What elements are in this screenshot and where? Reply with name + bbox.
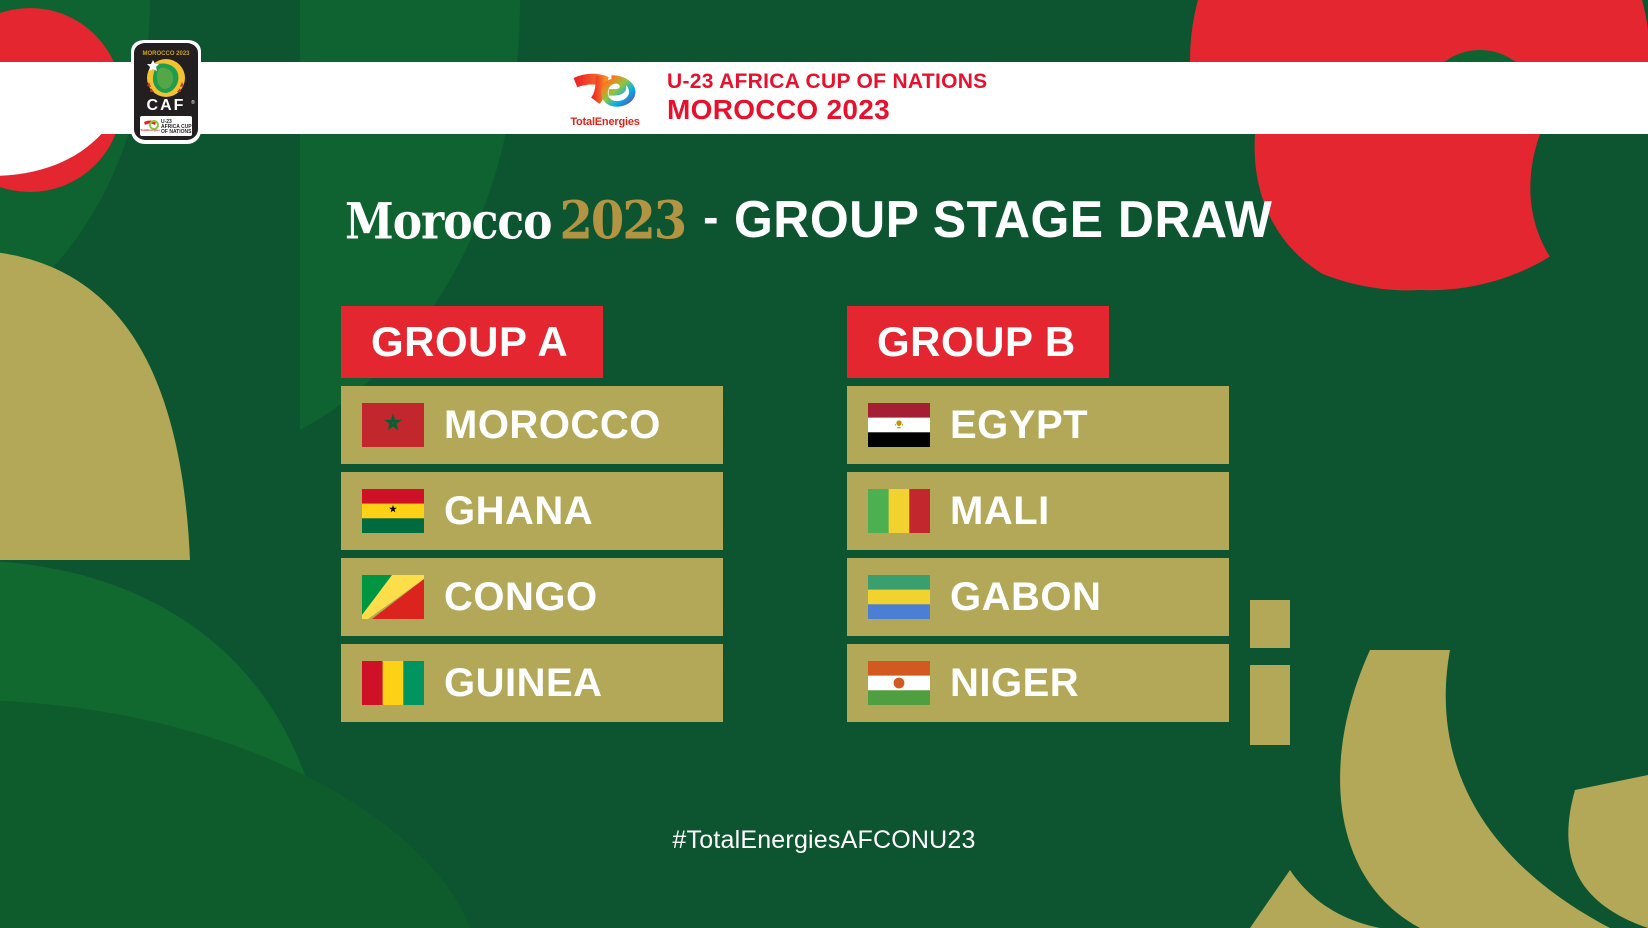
totalenergies-logo: TotalEnergies xyxy=(565,67,645,129)
group-a-label: GROUP A xyxy=(371,318,568,366)
team-name: CONGO xyxy=(444,575,598,620)
team-row[interactable]: EGYPT xyxy=(847,386,1229,464)
footer: #TotalEnergiesAFCONU23 xyxy=(0,826,1648,855)
groups-container: GROUP A MOROCCO GHANA CONG xyxy=(341,306,1229,722)
flag-gabon-icon xyxy=(868,575,930,619)
team-row[interactable]: GHANA xyxy=(341,472,723,550)
footer-hashtag: #TotalEnergiesAFCONU23 xyxy=(672,826,975,854)
header-line-1: U-23 AFRICA CUP OF NATIONS xyxy=(667,70,987,94)
group-a: GROUP A MOROCCO GHANA CONG xyxy=(341,306,723,722)
group-b-header: GROUP B xyxy=(847,306,1109,378)
header-line-2: MOROCCO 2023 xyxy=(667,94,987,126)
page-title: Morocco 2023 - GROUP STAGE DRAW xyxy=(345,185,1295,255)
title-separator: - xyxy=(703,190,718,244)
svg-text:MOROCCO 2023: MOROCCO 2023 xyxy=(142,51,190,57)
flag-niger-icon xyxy=(868,661,930,705)
sponsor-header-band: TotalEnergies U-23 AFRICA CUP OF NATIONS… xyxy=(0,62,1648,134)
svg-text:CAF: CAF xyxy=(147,97,186,114)
totalenergies-wordmark: TotalEnergies xyxy=(570,116,639,128)
team-row[interactable]: MOROCCO xyxy=(341,386,723,464)
flag-mali-icon xyxy=(868,489,930,533)
team-row[interactable]: MALI xyxy=(847,472,1229,550)
flag-guinea-icon xyxy=(362,661,424,705)
team-row[interactable]: GUINEA xyxy=(341,644,723,722)
svg-text:OF NATIONS: OF NATIONS xyxy=(161,129,192,135)
team-name: MALI xyxy=(950,489,1050,534)
title-host: Morocco xyxy=(345,193,552,250)
title-year: 2023 xyxy=(560,190,686,252)
group-b-label: GROUP B xyxy=(877,318,1076,366)
totalenergies-mark xyxy=(565,67,645,115)
header-inner: TotalEnergies U-23 AFRICA CUP OF NATIONS… xyxy=(565,62,987,134)
team-row[interactable]: CONGO xyxy=(341,558,723,636)
team-row[interactable]: GABON xyxy=(847,558,1229,636)
flag-ghana-icon xyxy=(362,489,424,533)
group-b: GROUP B EGYPT MALI xyxy=(847,306,1229,722)
team-name: GABON xyxy=(950,575,1101,620)
flag-congo-icon xyxy=(362,575,424,619)
header-text: U-23 AFRICA CUP OF NATIONS MOROCCO 2023 xyxy=(667,70,987,126)
flag-egypt-icon xyxy=(868,403,930,447)
caf-badge-logo: MOROCCO 2023 CAF ® TotalEnergies U-23 AF… xyxy=(127,38,205,148)
team-row[interactable]: NIGER xyxy=(847,644,1229,722)
team-name: GHANA xyxy=(444,489,593,534)
flag-morocco-icon xyxy=(362,403,424,447)
team-name: NIGER xyxy=(950,661,1079,706)
title-main: GROUP STAGE DRAW xyxy=(734,190,1272,250)
team-name: GUINEA xyxy=(444,661,603,706)
team-name: MOROCCO xyxy=(444,403,661,448)
team-name: EGYPT xyxy=(950,403,1088,448)
svg-text:TotalEnergies: TotalEnergies xyxy=(140,128,160,132)
group-a-header: GROUP A xyxy=(341,306,603,378)
svg-text:®: ® xyxy=(191,99,195,106)
